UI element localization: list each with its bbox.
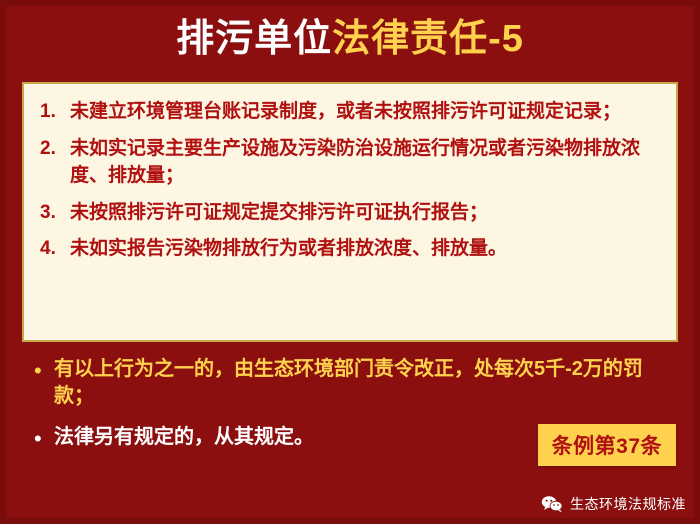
list-item-number: 2. (40, 135, 70, 163)
slide-title-part-b: 法律责任-5 (332, 18, 524, 60)
list-item: 4. 未如实报告污染物排放行为或者排放浓度、排放量。 (40, 235, 660, 263)
regulation-stamp: 条例第37条 (538, 424, 676, 466)
list-item: 2. 未如实记录主要生产设施及污染防治设施运行情况或者污染物排放浓度、排放量； (40, 135, 660, 190)
bullet-item: • 有以上行为之一的，由生态环境部门责令改正，处每次5千-2万的罚款； (34, 356, 674, 410)
list-item: 3. 未按照排污许可证规定提交排污许可证执行报告； (40, 199, 660, 227)
list-item-text: 未如实报告污染物排放行为或者排放浓度、排放量。 (70, 235, 660, 263)
footer-credit: 生态环境法规标准 (541, 494, 686, 514)
footer-text: 生态环境法规标准 (570, 494, 686, 514)
list-item-number: 1. (40, 98, 70, 126)
slide-title: 排污单位法律责任-5 (0, 20, 700, 58)
list-item: 1. 未建立环境管理台账记录制度，或者未按照排污许可证规定记录； (40, 98, 660, 126)
slide-title-text: 排污单位法律责任-5 (176, 20, 524, 58)
slide: 排污单位法律责任-5 1. 未建立环境管理台账记录制度，或者未按照排污许可证规定… (0, 0, 700, 524)
list-item-number: 3. (40, 199, 70, 227)
bullet-dot-icon: • (34, 356, 54, 386)
list-item-text: 未按照排污许可证规定提交排污许可证执行报告； (70, 199, 660, 227)
slide-title-part-a: 排污单位 (176, 18, 332, 60)
numbered-list-box: 1. 未建立环境管理台账记录制度，或者未按照排污许可证规定记录； 2. 未如实记… (22, 82, 678, 342)
list-item-text: 未如实记录主要生产设施及污染防治设施运行情况或者污染物排放浓度、排放量； (70, 135, 660, 190)
list-item-text: 未建立环境管理台账记录制度，或者未按照排污许可证规定记录； (70, 98, 660, 126)
bullet-dot-icon: • (34, 424, 54, 454)
bullet-item-text: 有以上行为之一的，由生态环境部门责令改正，处每次5千-2万的罚款； (54, 356, 674, 410)
wechat-icon (541, 495, 563, 513)
list-item-number: 4. (40, 235, 70, 263)
